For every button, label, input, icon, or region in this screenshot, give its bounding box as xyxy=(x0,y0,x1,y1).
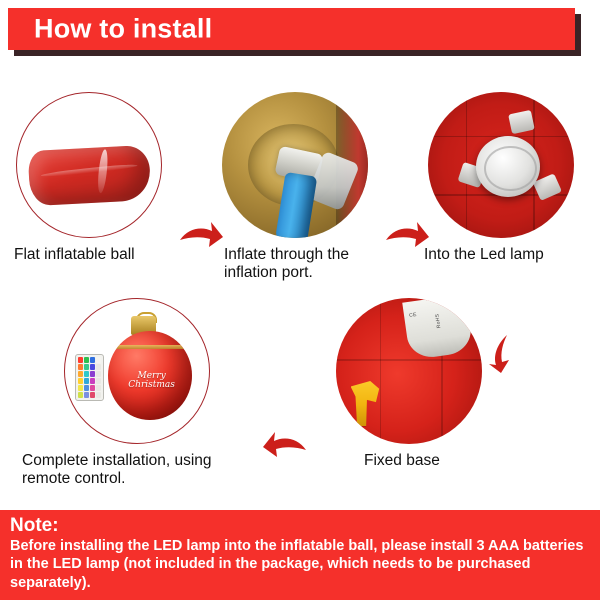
note-title: Note: xyxy=(10,516,590,536)
arrow-left-step5-to-step4 xyxy=(262,428,308,468)
base-seam-line xyxy=(441,353,443,444)
step-inflate-through-port: Inflate through the inflation port. xyxy=(222,92,399,283)
step-fixed-base: CE RoHS Fixed base xyxy=(336,298,482,470)
base-seam-line xyxy=(336,359,482,361)
note-banner: Note: Before installing the LED lamp int… xyxy=(0,510,600,600)
finished-ball-with-remote-photo: Merry Christmas xyxy=(64,298,210,444)
ornament-text: Merry Christmas xyxy=(118,372,185,391)
step-flat-inflatable-ball: Flat inflatable ball xyxy=(16,92,162,264)
step-caption: Into the Led lamp xyxy=(424,246,574,264)
step-into-the-led-lamp: Into the Led lamp xyxy=(428,92,574,264)
flat-inflatable-ball-photo xyxy=(16,92,162,238)
ornament-gold-band xyxy=(108,345,192,349)
remote-control xyxy=(75,354,104,402)
step-caption: Fixed base xyxy=(364,452,482,470)
arrow-right-step2-to-step3 xyxy=(384,218,430,258)
ornament-text-line2: Christmas xyxy=(118,381,185,390)
fixed-base-photo: CE RoHS xyxy=(336,298,482,444)
page-title: How to install xyxy=(34,14,212,45)
note-body: Before installing the LED lamp into the … xyxy=(10,537,590,593)
step-caption: Complete installation, using remote cont… xyxy=(22,452,232,489)
led-lamp-disc xyxy=(476,136,540,197)
steps-container: Flat inflatable ball Inflate through the… xyxy=(0,66,600,506)
christmas-ornament-ball: Merry Christmas xyxy=(108,331,192,420)
folded-ball-shape xyxy=(27,145,151,206)
step-caption: Flat inflatable ball xyxy=(14,246,162,264)
how-to-install-infographic: How to install Flat inflatable ball xyxy=(0,0,600,600)
led-lamp-insert-photo xyxy=(428,92,574,238)
base-seam-line xyxy=(380,298,382,444)
ball-fold-highlight xyxy=(40,162,137,178)
header-banner: How to install xyxy=(8,8,575,50)
label-mark-rohs: RoHS xyxy=(434,313,442,328)
inflation-port-photo xyxy=(222,92,368,238)
label-mark-ce: CE xyxy=(409,311,417,318)
step-caption: Inflate through the inflation port. xyxy=(224,246,399,283)
lamp-inner-ring xyxy=(484,146,537,192)
arrow-down-step3-to-step5 xyxy=(487,334,533,374)
arrow-right-step1-to-step2 xyxy=(178,218,224,258)
step-complete-installation: Merry Christmas Complete installation, u… xyxy=(64,298,232,489)
